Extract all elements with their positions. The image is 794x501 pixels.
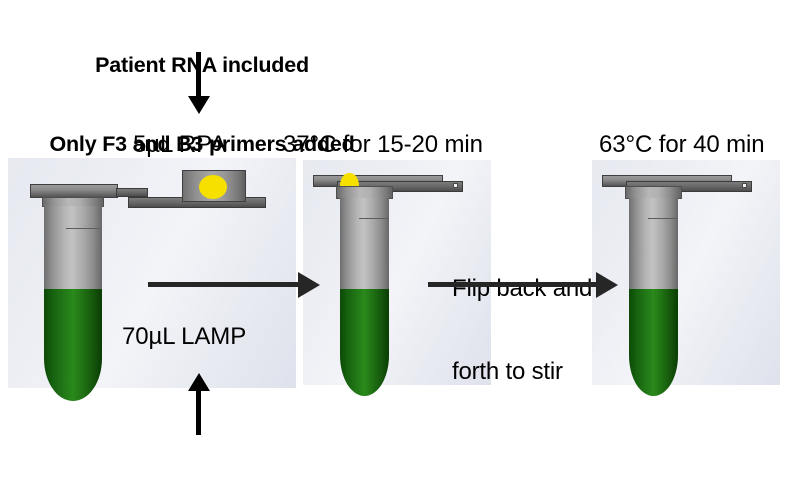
arrow-shaft: [428, 282, 598, 287]
label-lamp-volume: 70µL LAMP: [122, 322, 246, 351]
label-stir-instruction: Flip back and forth to stir: [452, 220, 592, 441]
arrow-right-step1-to-step2-icon: [148, 272, 320, 298]
tube3-tab-notch-icon: [742, 183, 747, 188]
arrow-head: [298, 272, 320, 298]
tube1-barrel: [44, 206, 102, 290]
tube2-reagent-cone: [340, 289, 389, 396]
tube1-cap-hinge: [116, 188, 148, 197]
tube2-tab-notch-icon: [453, 183, 458, 188]
arrow-right-step2-to-step3-icon: [428, 272, 618, 298]
stage-panel-3: [592, 160, 780, 385]
tube2-barrel: [340, 198, 389, 290]
arrow-head: [188, 96, 210, 114]
tube1-graduation-tick: [66, 228, 100, 229]
reagent-droplet-icon: [199, 175, 227, 199]
arrow-shaft: [196, 52, 201, 98]
bottom-annotation: No patient RNA included All LAMP primers…: [0, 446, 404, 501]
label-rpa-volume: 5µL RPA: [133, 130, 226, 159]
arrow-down-icon: [188, 52, 210, 114]
tube1-reagent-cone: [44, 289, 102, 401]
arrow-shaft: [148, 282, 300, 287]
figure-canvas: Patient RNA included Only F3 and B3 prim…: [0, 0, 794, 501]
tube3-barrel: [629, 198, 678, 290]
stir-line-2: forth to stir: [452, 358, 592, 386]
tube3-graduation-tick: [648, 218, 678, 219]
arrow-head: [596, 272, 618, 298]
arrow-head: [188, 373, 210, 391]
arrow-up-icon: [188, 373, 210, 435]
label-step2-condition: 37°C for 15-20 min: [283, 130, 483, 159]
label-step3-condition: 63°C for 40 min: [599, 130, 765, 159]
arrow-shaft: [196, 389, 201, 435]
tube3-reagent-cone: [629, 289, 678, 396]
tube1-cap-lid: [30, 184, 118, 198]
tube2-graduation-tick: [359, 218, 389, 219]
